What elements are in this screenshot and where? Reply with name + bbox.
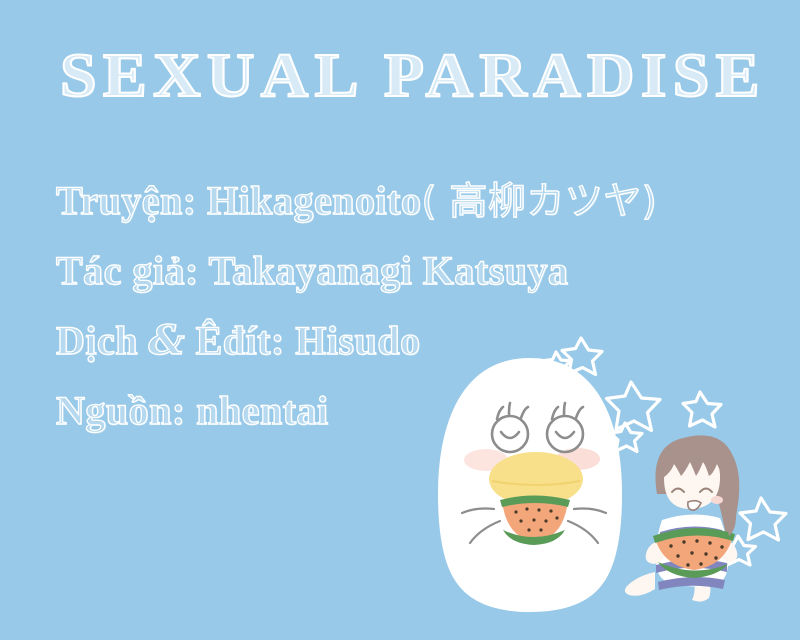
girl-hair-back	[655, 435, 739, 540]
credit-line-source: Nguồn: nhentai	[56, 376, 776, 446]
girl-mouth	[688, 501, 701, 510]
star-icon	[740, 498, 786, 540]
duck-blush-left	[464, 449, 508, 471]
credit-line-author: Tác giả: Takayanagi Katsuya	[56, 236, 776, 306]
girl-legs	[625, 572, 711, 602]
duck-arms	[462, 509, 606, 544]
girl-bangs	[659, 442, 726, 480]
credit-author-text: Tác giả: Takayanagi Katsuya	[56, 248, 569, 293]
credit-translation-suffix: Êđít: Hisudo	[185, 318, 420, 363]
chibi-girl	[625, 435, 739, 601]
ampersand-glyph: &	[149, 317, 186, 364]
credit-series-text: Truyện: Hikagenoito	[56, 178, 421, 223]
credit-line-series: Truyện: Hikagenoito( 高柳カツヤ)	[56, 166, 776, 236]
credits-block: Truyện: Hikagenoito( 高柳カツヤ) Tác giả: Tak…	[56, 166, 776, 446]
watermelon-slice	[500, 496, 570, 546]
girl-swimsuit	[656, 514, 728, 586]
credit-series-japanese: ( 高柳カツヤ)	[421, 179, 657, 223]
credit-source-text: Nguồn: nhentai	[56, 388, 329, 433]
girl-face	[664, 445, 720, 509]
credit-translation-prefix: Dịch	[56, 318, 149, 363]
girl-face-features	[672, 489, 712, 493]
girl-arms	[646, 538, 738, 564]
title-page: SEXUAL PARADISE Truyện: Hikagenoito( 高柳カ…	[0, 0, 800, 640]
duck-blush-right	[556, 448, 600, 470]
star-icon	[723, 536, 756, 565]
girl-blush	[711, 496, 723, 504]
credit-line-translation: Dịch & Êđít: Hisudo	[56, 306, 776, 376]
watermelon-slice	[653, 528, 735, 578]
duck-feet	[468, 521, 602, 588]
page-title: SEXUAL PARADISE	[60, 44, 791, 109]
girl-hair-side	[725, 498, 736, 536]
duck-beak	[489, 452, 583, 506]
girl-swimsuit-stripes	[656, 526, 727, 590]
